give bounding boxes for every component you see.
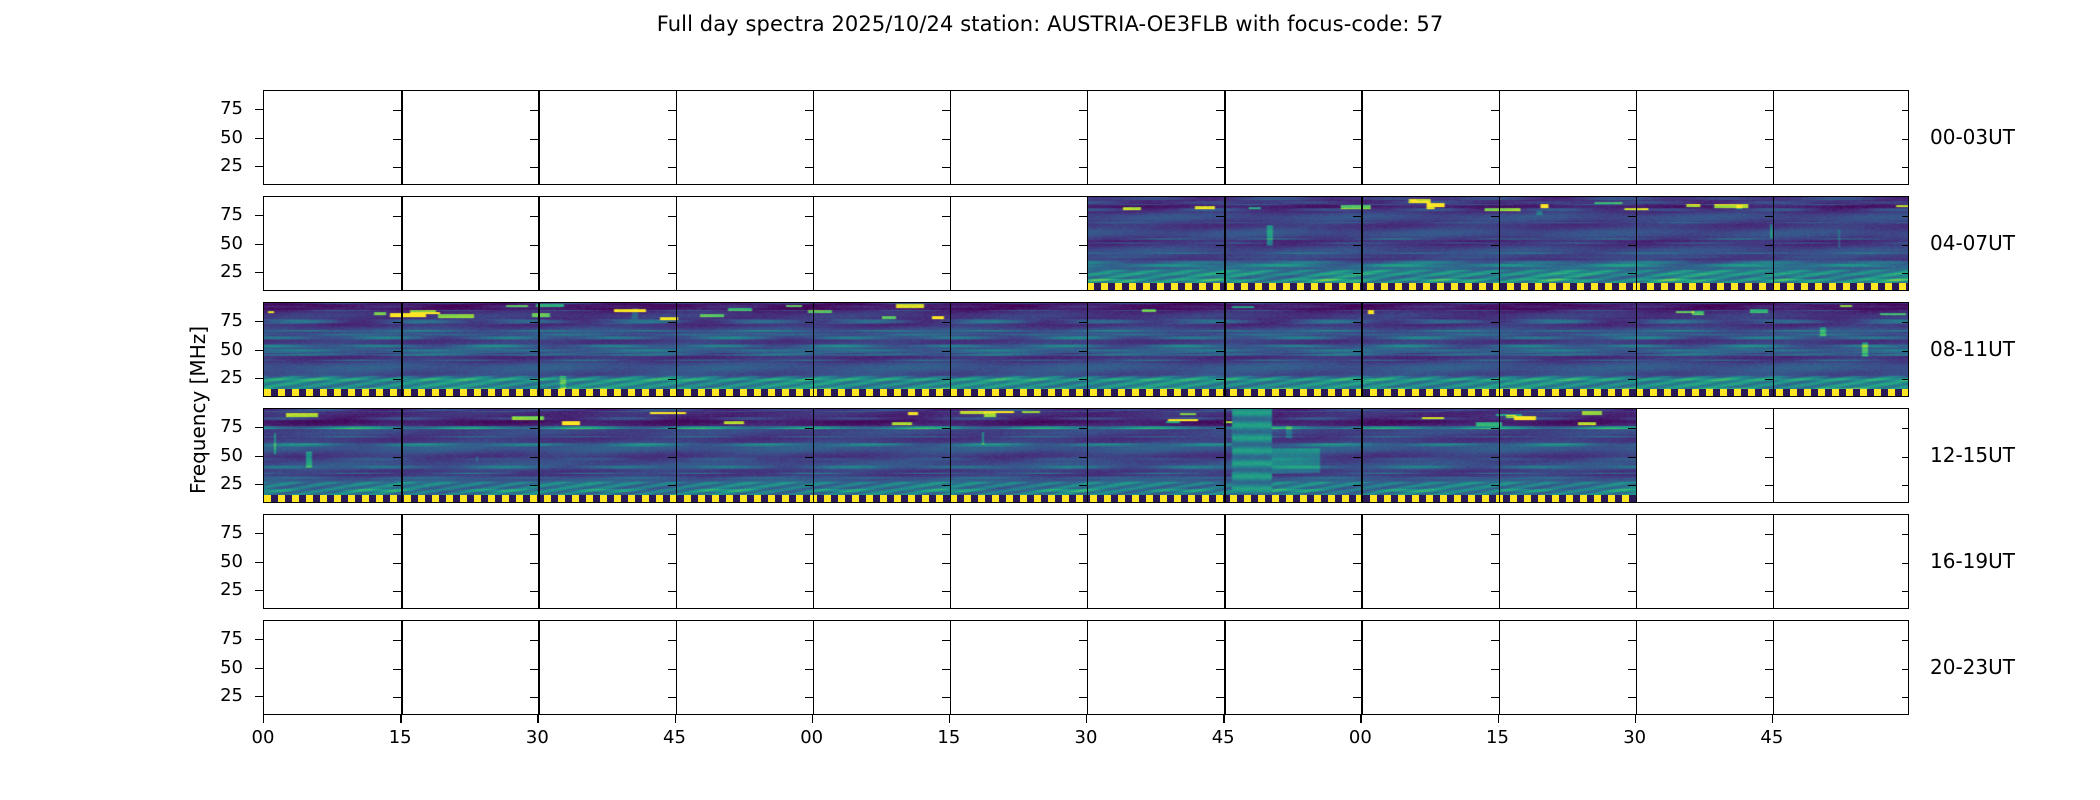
panel-tick [530, 591, 538, 592]
panel-tick [1765, 428, 1773, 429]
panel-tick [1765, 563, 1773, 564]
panel-divider [1499, 621, 1500, 714]
panel-tick [1216, 351, 1224, 352]
panel-tick [942, 485, 950, 486]
panel-tick [1765, 697, 1773, 698]
panel-tick [1491, 534, 1499, 535]
panel-tick [805, 697, 813, 698]
spectrogram-row-16-19ut[interactable] [263, 514, 1909, 609]
panel-tick [1216, 640, 1224, 641]
panel-divider [401, 515, 402, 608]
panel-divider [1361, 515, 1362, 608]
panel-tick [1079, 379, 1087, 380]
panel-divider [813, 409, 814, 502]
panel-divider [1636, 197, 1637, 290]
panel-tick [1216, 322, 1224, 323]
panel-tick [805, 351, 813, 352]
panel-divider [1224, 197, 1225, 290]
panel-tick [1765, 245, 1773, 246]
panel-tick [1216, 485, 1224, 486]
x-tick-label: 15 [919, 727, 979, 748]
panel-tick [805, 273, 813, 274]
panel-tick [805, 322, 813, 323]
panel-tick [1765, 139, 1773, 140]
panel-tick [393, 110, 401, 111]
y-tick-label: 75 [193, 416, 243, 437]
panel-tick [805, 216, 813, 217]
panel-divider [1361, 303, 1362, 396]
panel-divider [538, 303, 539, 396]
panel-divider [676, 91, 677, 184]
panel-tick [1216, 534, 1224, 535]
panel-tick [1079, 563, 1087, 564]
panel-tick [1765, 351, 1773, 352]
panel-divider [1773, 197, 1774, 290]
panel-tick [1765, 216, 1773, 217]
panel-divider [1773, 621, 1774, 714]
panel-divider [813, 515, 814, 608]
x-tick-label: 30 [507, 727, 567, 748]
panel-tick [942, 139, 950, 140]
panel-tick [530, 322, 538, 323]
panel-tick [1353, 273, 1361, 274]
panel-tick [1765, 322, 1773, 323]
y-axis-tick [255, 427, 263, 428]
panel-tick [805, 167, 813, 168]
y-axis-tick [255, 639, 263, 640]
panel-tick [1353, 534, 1361, 535]
panel-divider [1636, 621, 1637, 714]
y-tick-label: 75 [193, 628, 243, 649]
panel-divider [538, 621, 539, 714]
y-axis-tick [255, 272, 263, 273]
y-tick-label: 25 [193, 367, 243, 388]
panel-tick [1628, 591, 1636, 592]
panel-divider [1224, 515, 1225, 608]
panel-tick [393, 591, 401, 592]
panel-tick [393, 534, 401, 535]
panel-tick [1079, 245, 1087, 246]
y-tick-label: 25 [193, 261, 243, 282]
x-axis-tick [1360, 715, 1361, 723]
panel-tick [1216, 428, 1224, 429]
panel-tick [1079, 273, 1087, 274]
panel-tick [805, 591, 813, 592]
panel-tick [1079, 428, 1087, 429]
panel-tick [1491, 110, 1499, 111]
panel-divider [538, 197, 539, 290]
panel-tick [1491, 379, 1499, 380]
panel-tick [530, 669, 538, 670]
panel-tick [668, 110, 676, 111]
panel-tick [1628, 139, 1636, 140]
panel-tick [668, 591, 676, 592]
panel-tick [530, 167, 538, 168]
panel-divider [1499, 515, 1500, 608]
panel-tick [530, 216, 538, 217]
panel-tick [1491, 640, 1499, 641]
panel-tick [1628, 216, 1636, 217]
panel-tick [1902, 216, 1909, 217]
panel-tick [1628, 640, 1636, 641]
panel-divider [813, 91, 814, 184]
panel-tick [393, 167, 401, 168]
panel-tick [393, 485, 401, 486]
panel-tick [1491, 428, 1499, 429]
panel-divider [1361, 621, 1362, 714]
y-axis-tick [255, 321, 263, 322]
panel-divider [950, 409, 951, 502]
panel-tick [1491, 139, 1499, 140]
panel-divider [1636, 409, 1637, 502]
panel-divider [1087, 197, 1088, 290]
panel-divider [676, 197, 677, 290]
panel-divider [1361, 197, 1362, 290]
x-tick-label: 45 [645, 727, 705, 748]
panel-tick [1902, 273, 1909, 274]
panel-tick [668, 351, 676, 352]
panel-tick [1491, 167, 1499, 168]
panel-tick [1628, 322, 1636, 323]
panel-divider [1499, 91, 1500, 184]
panel-tick [668, 139, 676, 140]
panel-divider [1087, 91, 1088, 184]
x-tick-label: 30 [1605, 727, 1665, 748]
panel-divider [813, 303, 814, 396]
spectrogram-row-12-15ut[interactable] [263, 408, 1909, 503]
y-axis-tick [255, 590, 263, 591]
panel-tick [1902, 139, 1909, 140]
panel-divider [1499, 197, 1500, 290]
panel-tick [1079, 697, 1087, 698]
panel-tick [942, 669, 950, 670]
panel-tick [805, 245, 813, 246]
y-tick-label: 75 [193, 522, 243, 543]
panel-tick [1353, 216, 1361, 217]
panel-tick [942, 216, 950, 217]
panel-tick [942, 563, 950, 564]
panel-divider [1773, 409, 1774, 502]
panel-tick [805, 534, 813, 535]
panel-tick [1902, 167, 1909, 168]
panel-divider [1636, 515, 1637, 608]
panel-tick [1628, 563, 1636, 564]
panel-tick [1079, 457, 1087, 458]
panel-tick [530, 110, 538, 111]
panel-divider [1636, 91, 1637, 184]
panel-tick [1491, 669, 1499, 670]
y-axis-tick [255, 138, 263, 139]
spectrogram-row-20-23ut[interactable] [263, 620, 1909, 715]
panel-tick [1353, 139, 1361, 140]
y-tick-label: 25 [193, 155, 243, 176]
y-axis-tick [255, 244, 263, 245]
panel-tick [1216, 167, 1224, 168]
panel-divider [1087, 515, 1088, 608]
y-tick-label: 75 [193, 98, 243, 119]
panel-tick [1216, 457, 1224, 458]
panel-tick [668, 167, 676, 168]
row-label-20-23ut: 20-23UT [1930, 655, 2015, 679]
panel-tick [1079, 669, 1087, 670]
panel-tick [1765, 591, 1773, 592]
panel-tick [1216, 216, 1224, 217]
y-axis-tick [255, 109, 263, 110]
panel-tick [530, 379, 538, 380]
panel-divider [676, 515, 677, 608]
panel-tick [1216, 697, 1224, 698]
panel-tick [668, 379, 676, 380]
panel-tick [1765, 379, 1773, 380]
panel-tick [1353, 322, 1361, 323]
x-tick-label: 00 [1330, 727, 1390, 748]
y-tick-label: 25 [193, 579, 243, 600]
panel-divider [538, 515, 539, 608]
panel-divider [401, 303, 402, 396]
panel-tick [1765, 485, 1773, 486]
y-axis-tick [255, 533, 263, 534]
panel-divider [950, 515, 951, 608]
panel-tick [805, 110, 813, 111]
panel-tick [393, 139, 401, 140]
panel-tick [530, 428, 538, 429]
panel-tick [942, 697, 950, 698]
x-tick-label: 15 [1468, 727, 1528, 748]
panel-tick [1902, 457, 1909, 458]
panel-tick [1353, 167, 1361, 168]
panel-tick [668, 534, 676, 535]
panel-tick [1628, 669, 1636, 670]
panel-tick [805, 428, 813, 429]
panel-tick [1765, 273, 1773, 274]
y-tick-label: 50 [193, 551, 243, 572]
panel-divider [1087, 621, 1088, 714]
panel-tick [942, 245, 950, 246]
panel-divider [950, 91, 951, 184]
panel-tick [1902, 379, 1909, 380]
panel-tick [668, 216, 676, 217]
panel-tick [1353, 379, 1361, 380]
x-tick-label: 45 [1193, 727, 1253, 748]
x-axis-tick [1086, 715, 1087, 723]
panel-divider [1773, 515, 1774, 608]
panel-tick [1628, 697, 1636, 698]
panel-tick [1902, 485, 1909, 486]
row-label-12-15ut: 12-15UT [1930, 443, 2015, 467]
panel-tick [668, 485, 676, 486]
panel-tick [1628, 167, 1636, 168]
panel-divider [1636, 303, 1637, 396]
panel-tick [1628, 273, 1636, 274]
panel-tick [530, 534, 538, 535]
panel-tick [1491, 591, 1499, 592]
panel-tick [1079, 351, 1087, 352]
panel-tick [805, 485, 813, 486]
x-tick-label: 15 [370, 727, 430, 748]
panel-tick [805, 379, 813, 380]
panel-tick [393, 428, 401, 429]
panel-tick [942, 273, 950, 274]
panel-tick [1216, 245, 1224, 246]
panel-tick [668, 322, 676, 323]
panel-tick [1491, 322, 1499, 323]
panel-divider [950, 621, 951, 714]
panel-tick [1902, 563, 1909, 564]
y-tick-label: 75 [193, 204, 243, 225]
panel-tick [1216, 591, 1224, 592]
panel-divider [1087, 409, 1088, 502]
panel-divider [950, 303, 951, 396]
spectrogram-row-04-07ut[interactable] [263, 196, 1909, 291]
spectrogram-figure: Full day spectra 2025/10/24 station: AUS… [0, 0, 2100, 800]
panel-tick [668, 640, 676, 641]
panel-divider [1773, 303, 1774, 396]
row-label-16-19ut: 16-19UT [1930, 549, 2015, 573]
panel-tick [1902, 322, 1909, 323]
panel-tick [668, 563, 676, 564]
panel-tick [530, 457, 538, 458]
panel-tick [1079, 322, 1087, 323]
panel-tick [530, 485, 538, 486]
panel-tick [1353, 457, 1361, 458]
row-label-08-11ut: 08-11UT [1930, 337, 2015, 361]
panel-tick [805, 669, 813, 670]
panel-tick [1216, 139, 1224, 140]
panel-divider [676, 621, 677, 714]
panel-tick [668, 669, 676, 670]
panel-tick [1628, 110, 1636, 111]
panel-tick [1353, 485, 1361, 486]
panel-tick [530, 139, 538, 140]
panel-tick [1216, 563, 1224, 564]
panel-divider [538, 409, 539, 502]
panel-divider [1224, 621, 1225, 714]
row-label-00-03ut: 00-03UT [1930, 125, 2015, 149]
x-tick-label: 00 [233, 727, 293, 748]
panel-divider [1361, 409, 1362, 502]
panel-tick [393, 245, 401, 246]
x-axis-tick [675, 715, 676, 723]
x-tick-label: 45 [1742, 727, 1802, 748]
panel-tick [1765, 640, 1773, 641]
panel-divider [538, 91, 539, 184]
panel-divider [676, 303, 677, 396]
panel-tick [1079, 485, 1087, 486]
panel-tick [942, 640, 950, 641]
y-tick-label: 50 [193, 233, 243, 254]
panel-tick [1765, 669, 1773, 670]
y-tick-label: 50 [193, 339, 243, 360]
panel-tick [668, 697, 676, 698]
x-axis-tick [1223, 715, 1224, 723]
y-axis-tick [255, 456, 263, 457]
y-tick-label: 75 [193, 310, 243, 331]
panel-tick [530, 351, 538, 352]
panel-tick [942, 379, 950, 380]
panel-tick [1902, 640, 1909, 641]
panel-tick [1628, 428, 1636, 429]
panel-divider [401, 91, 402, 184]
x-axis-tick [812, 715, 813, 723]
panel-tick [1079, 534, 1087, 535]
panel-divider [401, 409, 402, 502]
panel-tick [805, 457, 813, 458]
x-axis-tick [537, 715, 538, 723]
panel-tick [1765, 110, 1773, 111]
panel-tick [942, 351, 950, 352]
panel-tick [1765, 534, 1773, 535]
panel-divider [676, 409, 677, 502]
panel-tick [530, 273, 538, 274]
panel-tick [1628, 485, 1636, 486]
y-tick-label: 50 [193, 127, 243, 148]
panel-tick [1079, 216, 1087, 217]
panel-tick [530, 640, 538, 641]
panel-tick [393, 457, 401, 458]
panel-tick [668, 457, 676, 458]
panel-divider [1224, 91, 1225, 184]
y-tick-label: 25 [193, 685, 243, 706]
panel-tick [1079, 167, 1087, 168]
panel-tick [1079, 110, 1087, 111]
panel-tick [1765, 167, 1773, 168]
y-tick-label: 50 [193, 445, 243, 466]
spectrogram-row-08-11ut[interactable] [263, 302, 1909, 397]
panel-divider [401, 621, 402, 714]
panel-tick [1353, 110, 1361, 111]
panel-tick [942, 428, 950, 429]
panel-divider [1499, 409, 1500, 502]
panel-tick [1353, 591, 1361, 592]
x-axis-tick [1772, 715, 1773, 723]
panel-tick [1353, 697, 1361, 698]
panel-tick [530, 697, 538, 698]
panel-tick [1491, 216, 1499, 217]
panel-tick [1353, 351, 1361, 352]
panel-divider [1499, 303, 1500, 396]
panel-tick [1902, 534, 1909, 535]
panel-divider [1087, 303, 1088, 396]
panel-tick [1491, 457, 1499, 458]
page-title: Full day spectra 2025/10/24 station: AUS… [0, 12, 2100, 36]
panel-tick [393, 669, 401, 670]
panel-tick [942, 534, 950, 535]
y-axis-tick [255, 668, 263, 669]
panel-tick [393, 273, 401, 274]
panel-divider [950, 197, 951, 290]
x-axis-tick [1635, 715, 1636, 723]
panel-tick [1353, 640, 1361, 641]
panel-tick [942, 110, 950, 111]
y-tick-label: 50 [193, 657, 243, 678]
panel-tick [1902, 591, 1909, 592]
x-axis-tick [400, 715, 401, 723]
x-tick-label: 00 [782, 727, 842, 748]
panel-tick [1902, 110, 1909, 111]
panel-tick [1491, 563, 1499, 564]
spectrogram-row-00-03ut[interactable] [263, 90, 1909, 185]
panel-tick [942, 591, 950, 592]
panel-tick [393, 563, 401, 564]
panel-tick [393, 640, 401, 641]
panel-tick [1491, 485, 1499, 486]
panel-tick [668, 428, 676, 429]
panel-tick [393, 322, 401, 323]
panel-tick [1628, 245, 1636, 246]
panel-tick [1216, 273, 1224, 274]
panel-tick [1216, 110, 1224, 111]
panel-tick [530, 245, 538, 246]
